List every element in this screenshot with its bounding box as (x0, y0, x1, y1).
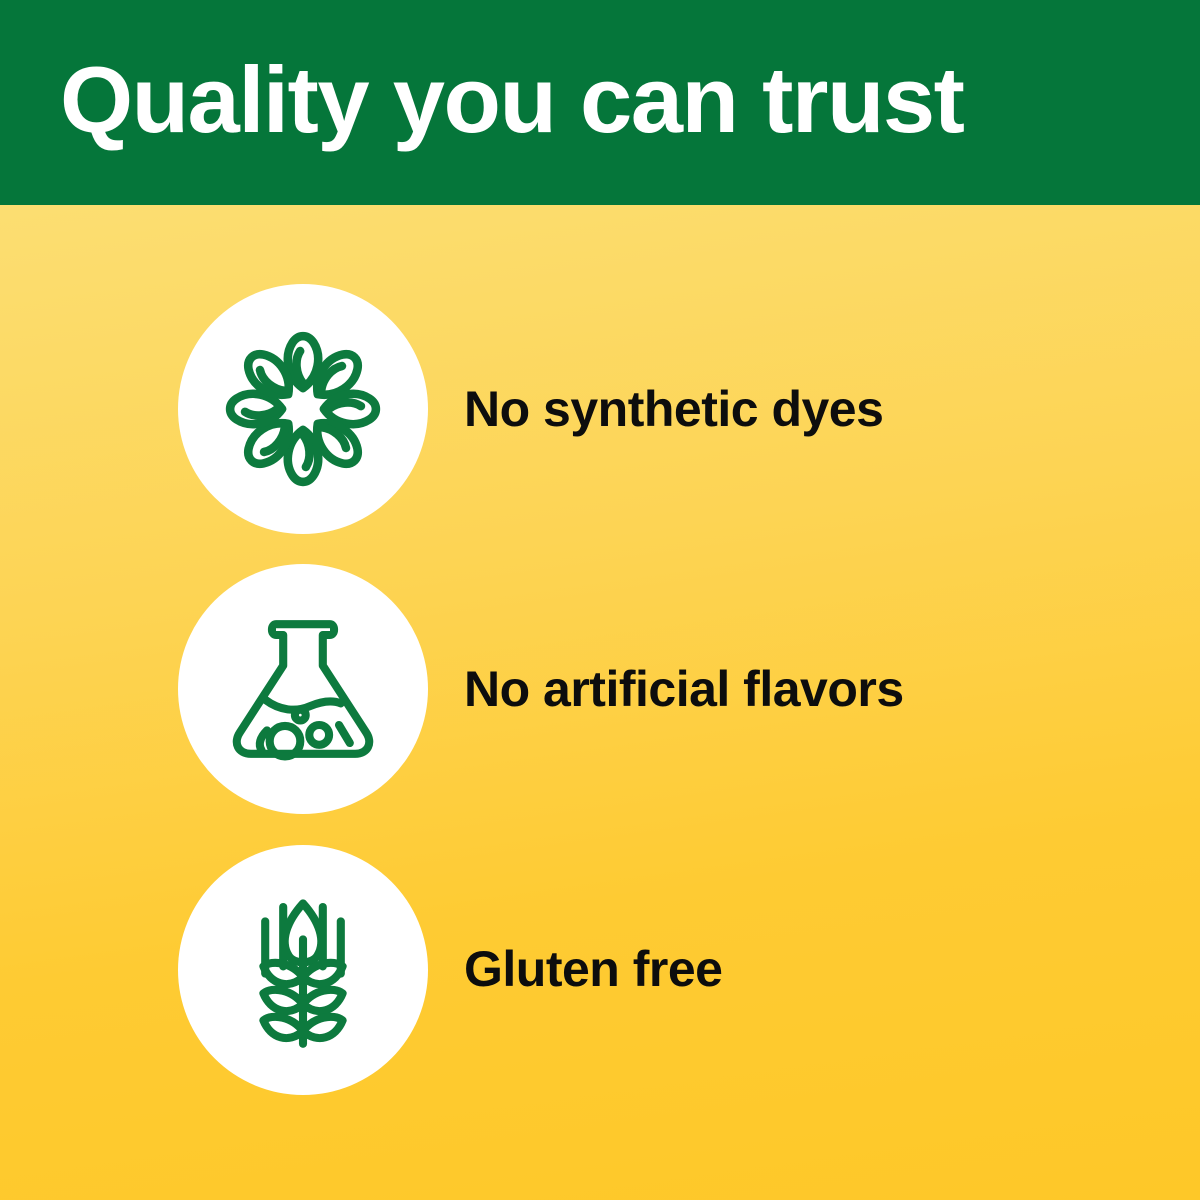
erlenmeyer-flask-icon (213, 599, 393, 779)
feature-row: Gluten free (0, 830, 1200, 1110)
header-banner: Quality you can trust (0, 0, 1200, 205)
wheat-stalk-icon (213, 880, 393, 1060)
page-title: Quality you can trust (60, 53, 963, 153)
feature-list: No synthetic dyes (0, 205, 1200, 1200)
icon-badge (178, 284, 428, 534)
feature-row: No synthetic dyes (0, 269, 1200, 549)
feature-label: No synthetic dyes (464, 382, 883, 437)
feature-label: No artificial flavors (464, 662, 904, 717)
icon-badge (178, 845, 428, 1095)
feature-label: Gluten free (464, 942, 722, 997)
flower-petals-icon (208, 314, 398, 504)
icon-badge (178, 564, 428, 814)
feature-row: No artificial flavors (0, 549, 1200, 829)
quality-promo-card: Quality you can trust (0, 0, 1200, 1200)
